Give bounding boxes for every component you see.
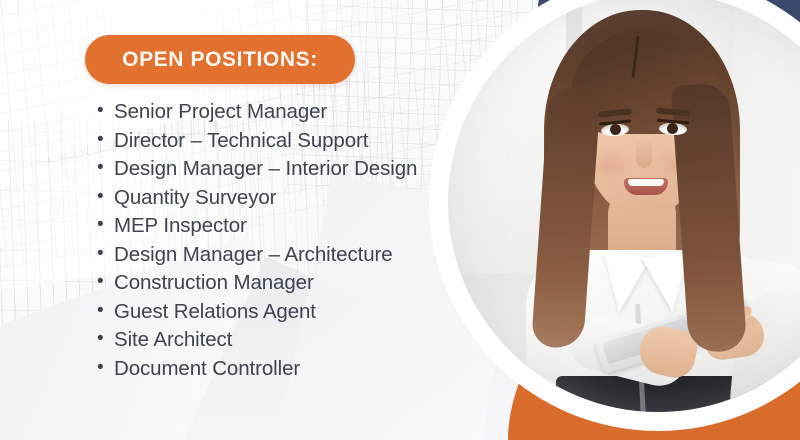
list-item: Senior Project Manager <box>114 98 434 126</box>
open-positions-list: Senior Project Manager Director – Techni… <box>92 98 434 383</box>
cheek-left <box>594 156 624 174</box>
list-item: Quantity Surveyor <box>114 184 434 212</box>
open-positions-label: OPEN POSITIONS: <box>122 48 318 72</box>
teeth <box>628 179 664 186</box>
list-item: Design Manager – Interior Design <box>114 155 434 183</box>
content-column: OPEN POSITIONS: Senior Project Manager D… <box>0 0 440 440</box>
recruitment-banner: OPEN POSITIONS: Senior Project Manager D… <box>0 0 800 440</box>
portrait-photo <box>448 0 800 412</box>
portrait-content <box>448 0 800 412</box>
pupil-left <box>610 124 621 135</box>
list-item: Guest Relations Agent <box>114 298 434 326</box>
list-item: Document Controller <box>114 355 434 383</box>
list-item: Design Manager – Architecture <box>114 241 434 269</box>
list-item: Construction Manager <box>114 269 434 297</box>
pupil-right <box>667 123 678 134</box>
list-item: Site Architect <box>114 326 434 354</box>
list-item: Director – Technical Support <box>114 127 434 155</box>
open-positions-headline: OPEN POSITIONS: <box>85 35 355 84</box>
nose <box>636 138 652 168</box>
list-item: MEP Inspector <box>114 212 434 240</box>
